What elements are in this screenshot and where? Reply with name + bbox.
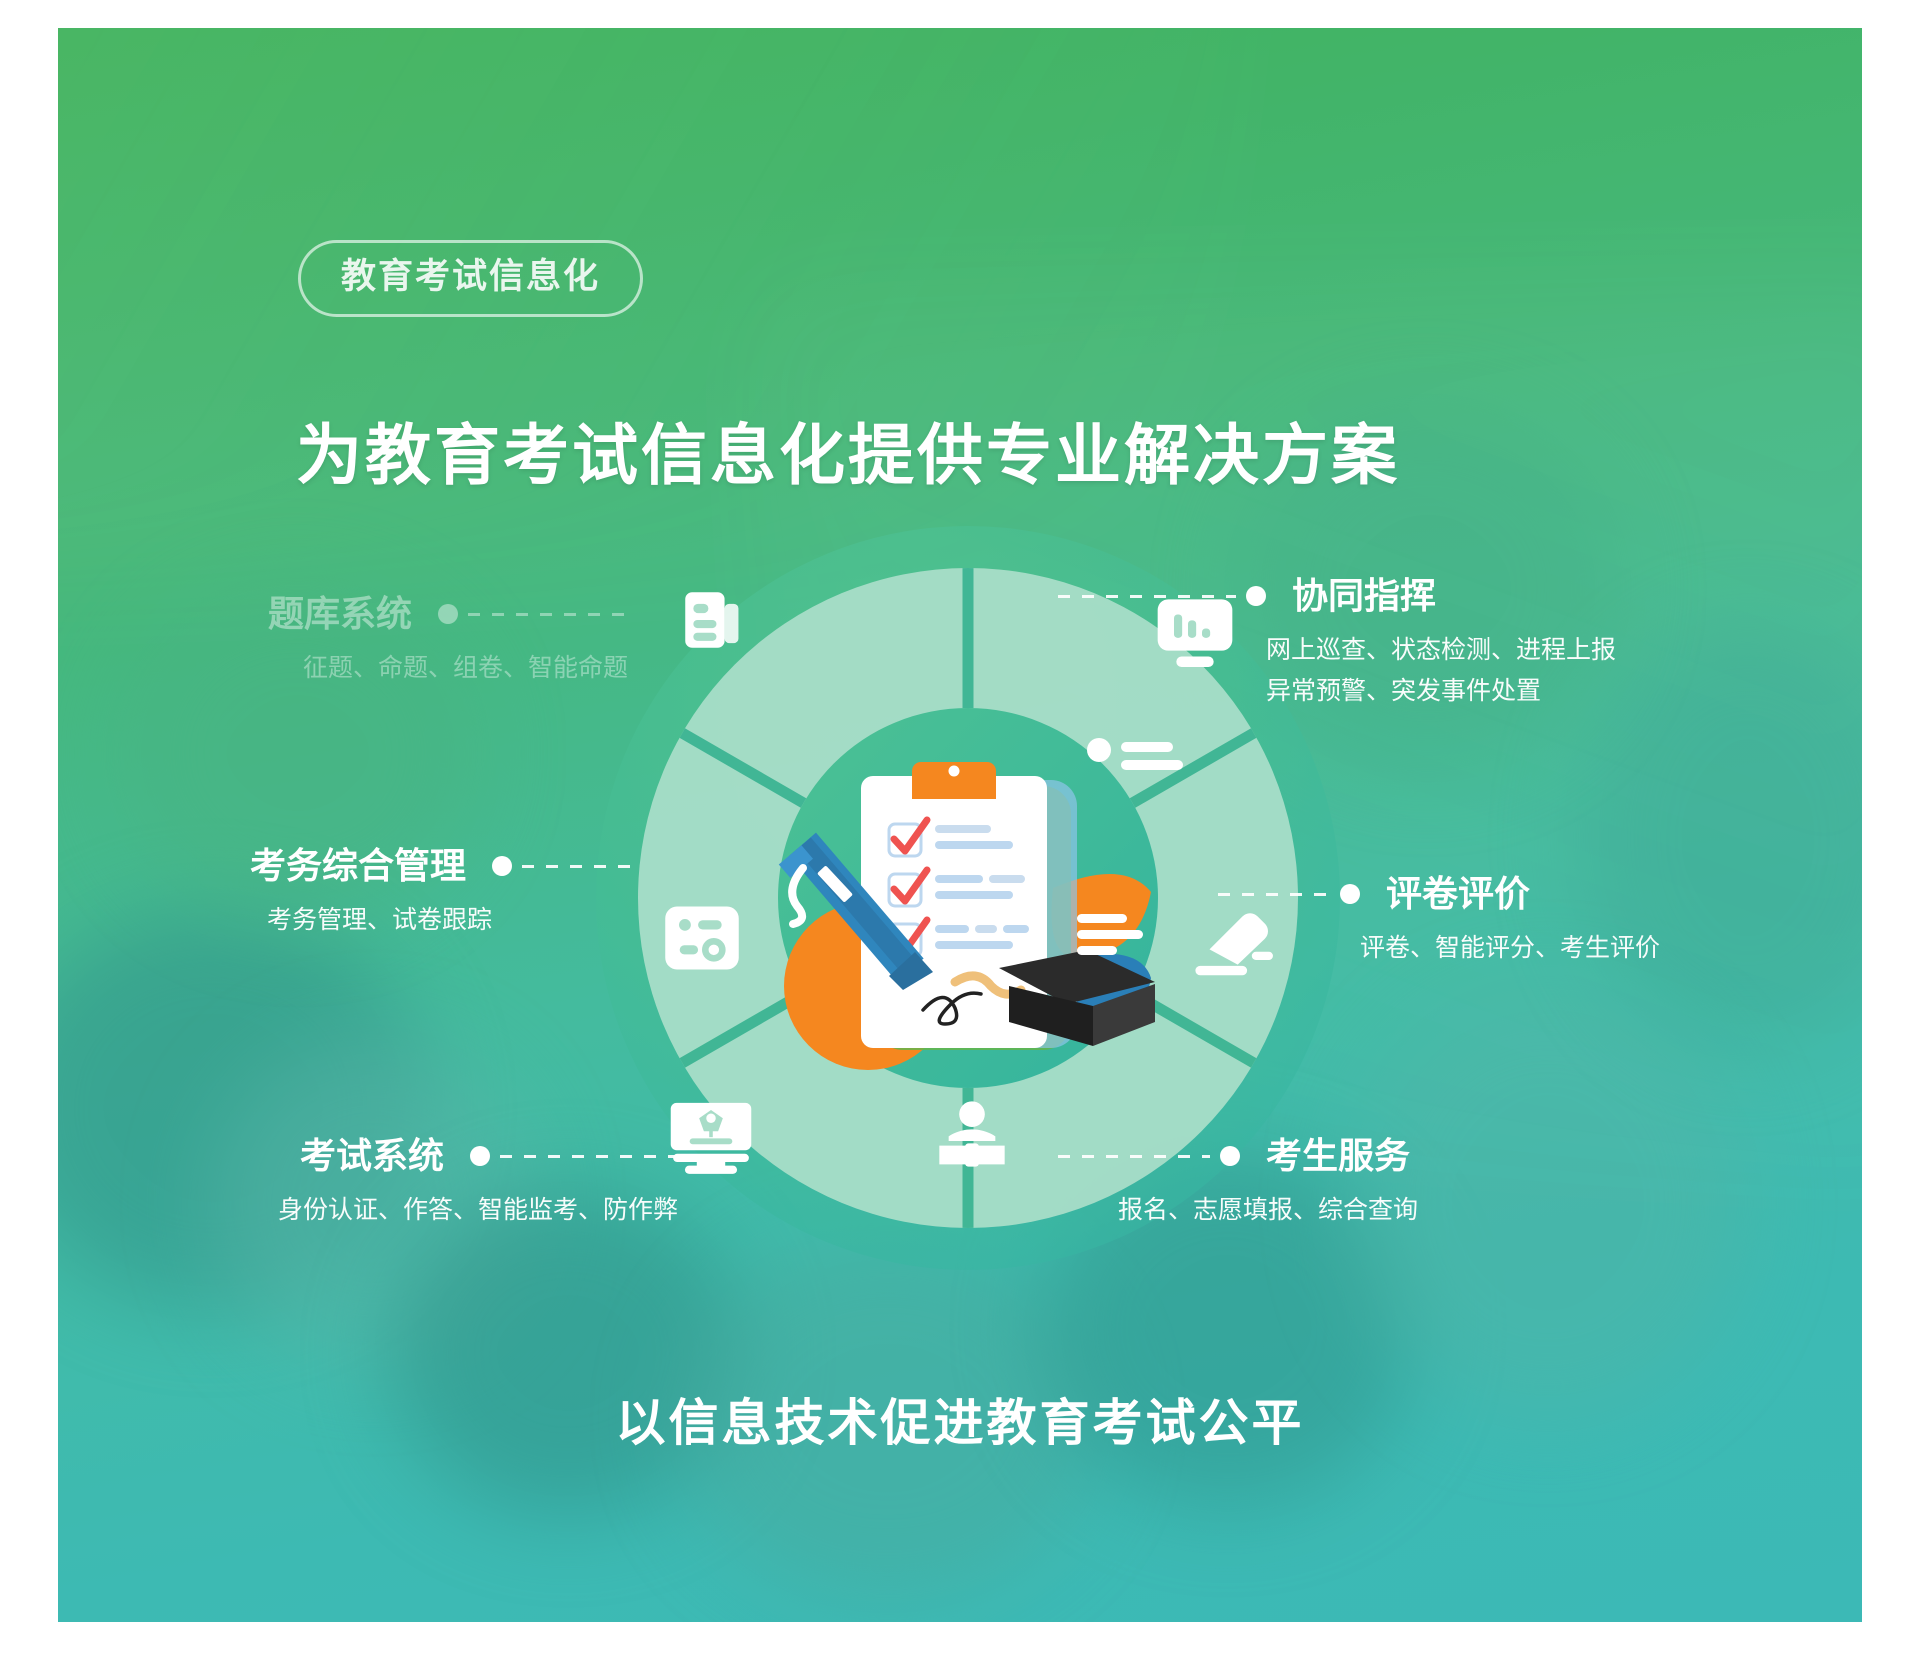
callout-pingjuan[interactable]: 评卷评价 评卷、智能评分、考生评价 (1218, 876, 1758, 969)
footer-tagline: 以信息技术促进教育考试公平 (58, 1383, 1862, 1455)
segment-icon-settings-card (660, 896, 744, 980)
callout-desc-line: 考务管理、试卷跟踪 (168, 900, 492, 941)
infographic-canvas: 教育考试信息化 为教育考试信息化提供专业解决方案 (0, 0, 1920, 1670)
connector-dot (1220, 1146, 1240, 1166)
callout-kaowu[interactable]: 考务综合管理 考务管理、试卷跟踪 (168, 848, 638, 941)
connector-dash (500, 1155, 678, 1158)
callout-title: 协同指挥 (1292, 578, 1436, 614)
connector-dot (1246, 586, 1266, 606)
callout-xietong[interactable]: 协同指挥 网上巡查、状态检测、进程上报 异常预警、突发事件处置 (1058, 578, 1678, 711)
connector-row: 考生服务 (1058, 1138, 1618, 1174)
green-gradient-panel: 教育考试信息化 为教育考试信息化提供专业解决方案 (58, 28, 1862, 1622)
connector-dash (468, 613, 628, 616)
callout-kaoshi[interactable]: 考试系统 身份认证、作答、智能监考、防作弊 (168, 1138, 678, 1231)
callout-title: 考生服务 (1266, 1138, 1410, 1174)
connector-dot (492, 856, 512, 876)
connector-dash (1058, 1155, 1210, 1158)
connector-row: 协同指挥 (1058, 578, 1678, 614)
callout-desc-line: 报名、志愿填报、综合查询 (1118, 1190, 1618, 1231)
callout-title: 考务综合管理 (250, 848, 466, 884)
callout-desc: 网上巡查、状态检测、进程上报 异常预警、突发事件处置 (1266, 630, 1678, 711)
connector-row: 考务综合管理 (168, 848, 638, 884)
callout-desc-line: 网上巡查、状态检测、进程上报 (1266, 630, 1678, 671)
callout-tiku[interactable]: 题库系统 征题、命题、组卷、智能命题 (208, 596, 628, 689)
connector-row: 评卷评价 (1218, 876, 1758, 912)
segment-icon-monitor-pen (666, 1094, 756, 1178)
connector-dash (1058, 595, 1236, 598)
segment-icon-document-lines (676, 583, 750, 657)
callout-title: 考试系统 (300, 1138, 444, 1174)
connector-dot (1340, 884, 1360, 904)
callout-desc-line: 评卷、智能评分、考生评价 (1360, 928, 1758, 969)
connector-dash (522, 865, 638, 868)
category-badge: 教育考试信息化 (298, 240, 643, 317)
callout-desc-line: 征题、命题、组卷、智能命题 (208, 648, 628, 689)
callout-title: 评卷评价 (1386, 876, 1530, 912)
callout-desc-line: 身份认证、作答、智能监考、防作弊 (168, 1190, 678, 1231)
callout-desc-line: 异常预警、突发事件处置 (1266, 671, 1678, 712)
connector-dash (1218, 893, 1330, 896)
clipboard-checklist-illustration (763, 718, 1183, 1118)
clip-hole (949, 766, 960, 777)
connector-row: 题库系统 (208, 596, 628, 632)
connector-dot (438, 604, 458, 624)
speech-lines (1087, 738, 1183, 770)
pen-cord (792, 868, 803, 924)
connector-dot (470, 1146, 490, 1166)
callout-kaosheng[interactable]: 考生服务 报名、志愿填报、综合查询 (1058, 1138, 1618, 1231)
callout-title: 题库系统 (268, 596, 412, 632)
connector-row: 考试系统 (168, 1138, 678, 1174)
